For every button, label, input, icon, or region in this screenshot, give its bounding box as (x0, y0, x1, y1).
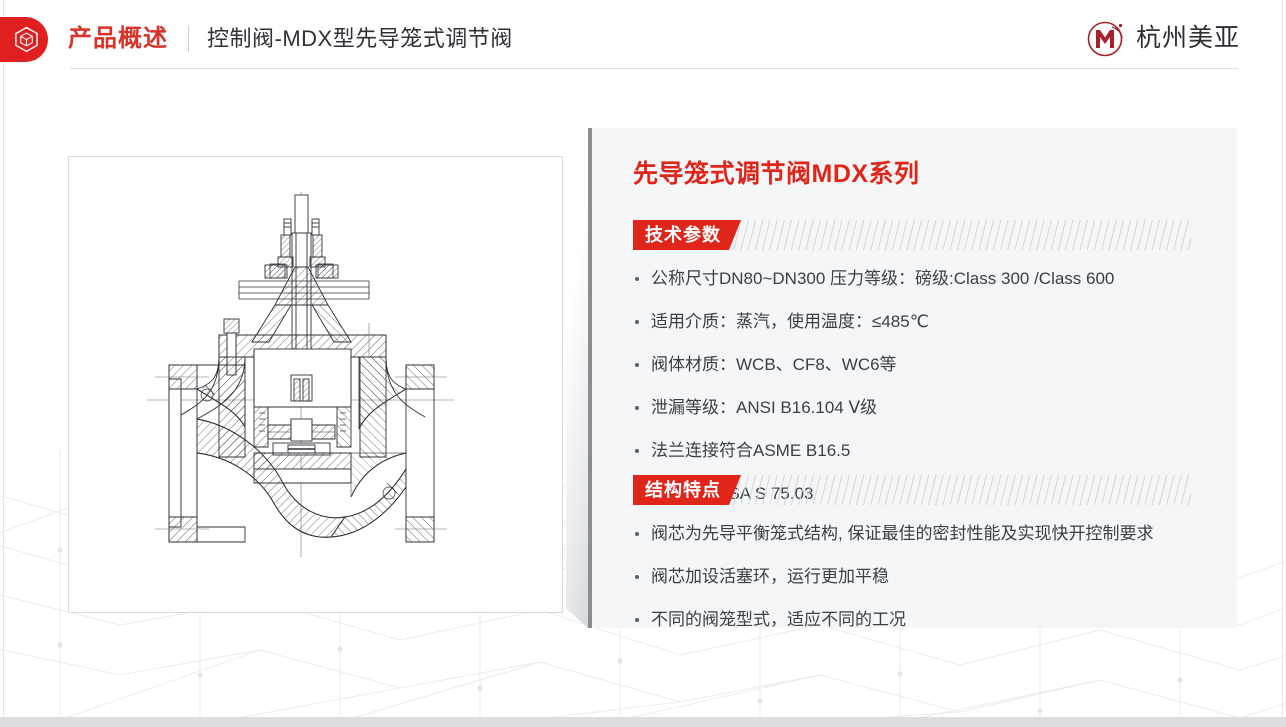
product-series-title: 先导笼式调节阀MDX系列 (633, 162, 920, 187)
list-item: 泄漏等级：ANSI B16.104 Ⅴ级 (633, 399, 1114, 416)
panel-fold-shadow (566, 138, 588, 628)
meiya-m-circle-logo-icon (1085, 17, 1127, 59)
slide-page: 产品概述 控制阀-MDX型先导笼式调节阀 杭州美亚 (0, 0, 1286, 727)
brand-badge (0, 17, 48, 62)
company-logo: 杭州美亚 (1085, 17, 1240, 59)
control-valve-cross-section-drawing (69, 157, 562, 612)
list-item: 阀体材质：WCB、CF8、WC6等 (633, 356, 1114, 373)
list-item: 阀芯加设活塞环，运行更加平稳 (633, 568, 1153, 585)
header-divider-line (70, 68, 1238, 69)
page-title: 产品概述 (68, 27, 168, 51)
list-item: 适用介质：蒸汽，使用温度：≤485℃ (633, 313, 1114, 330)
company-name: 杭州美亚 (1136, 26, 1240, 51)
banner-stripes-features (719, 475, 1191, 505)
title-divider (188, 26, 189, 52)
section-banner-tech: 技术参数 (633, 220, 1193, 250)
valve-diagram-card (68, 156, 563, 613)
structure-features-list: 阀芯为先导平衡笼式结构, 保证最佳的密封性能及实现快开控制要求 阀芯加设活塞环，… (633, 525, 1153, 628)
cube-hexagon-icon (14, 26, 39, 53)
section-tag-features: 结构特点 (633, 475, 741, 505)
page-subtitle: 控制阀-MDX型先导笼式调节阀 (207, 28, 513, 50)
list-item: 不同的阀笼型式，适应不同的工况 (633, 611, 1153, 628)
list-item: 公称尺寸DN80~DN300 压力等级：磅级:Class 300 /Class … (633, 270, 1114, 287)
list-item: 阀芯为先导平衡笼式结构, 保证最佳的密封性能及实现快开控制要求 (633, 525, 1153, 542)
banner-stripes-tech (719, 220, 1191, 250)
list-item: 法兰连接符合ASME B16.5 (633, 442, 1114, 459)
section-tag-tech: 技术参数 (633, 220, 741, 250)
page-header: 产品概述 控制阀-MDX型先导笼式调节阀 杭州美亚 (0, 0, 1286, 80)
page-right-edge-line (1282, 0, 1283, 717)
header-title-group: 产品概述 控制阀-MDX型先导笼式调节阀 (68, 19, 513, 59)
section-banner-features: 结构特点 (633, 475, 1193, 505)
footer-bar (0, 717, 1286, 727)
spec-content-panel: 先导笼式调节阀MDX系列 技术参数 公称尺寸DN80~DN300 压力等级：磅级… (592, 128, 1237, 628)
page-left-edge-line (3, 0, 4, 717)
